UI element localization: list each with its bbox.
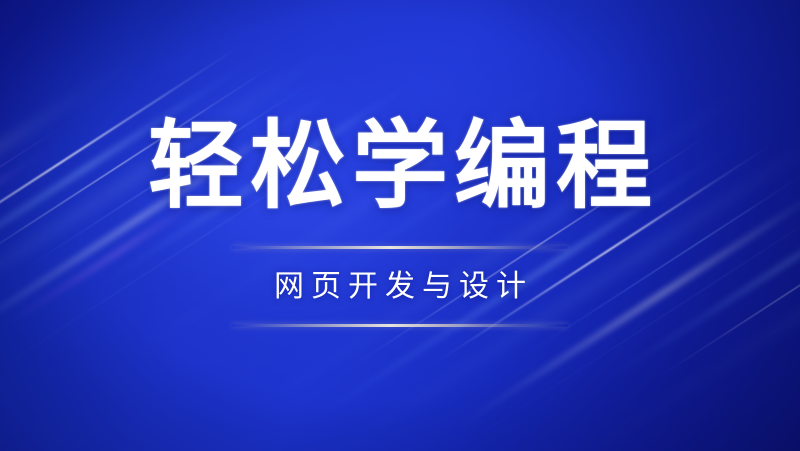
main-title: 轻松学编程 [142, 118, 658, 214]
promo-banner: 轻松学编程 网页开发与设计 [0, 0, 800, 451]
banner-content: 轻松学编程 网页开发与设计 [0, 0, 800, 451]
subtitle-block: 网页开发与设计 [232, 246, 568, 327]
bottom-divider [232, 324, 568, 327]
subtitle: 网页开发与设计 [267, 249, 533, 324]
